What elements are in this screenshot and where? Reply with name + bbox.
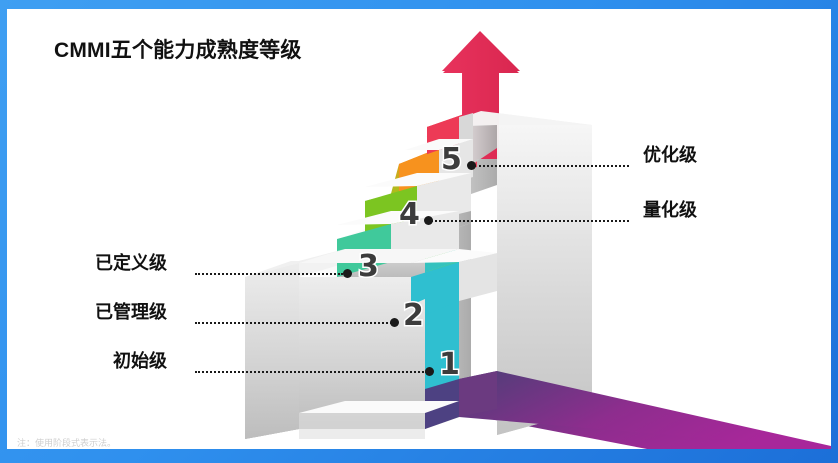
level-label-3: 已定义级 bbox=[95, 254, 167, 272]
level-label-4: 量化级 bbox=[643, 201, 697, 219]
level-number-2: 2 bbox=[403, 301, 424, 331]
level-label-1: 初始级 bbox=[113, 352, 167, 370]
level-number-5: 5 bbox=[441, 145, 462, 175]
leader-line-level1 bbox=[195, 371, 427, 373]
level-number-3: 3 bbox=[358, 252, 379, 282]
leader-dot-level1 bbox=[425, 367, 434, 376]
level-number-4: 4 bbox=[399, 200, 420, 230]
leader-line-level3 bbox=[195, 273, 343, 275]
footnote: 注：使用阶段式表示法。 bbox=[17, 436, 116, 449]
leader-line-level2 bbox=[195, 322, 392, 324]
leader-dot-level3 bbox=[343, 269, 352, 278]
leader-dot-level2 bbox=[390, 318, 399, 327]
leader-line-level4 bbox=[431, 220, 629, 222]
level-number-1: 1 bbox=[439, 350, 460, 380]
slide-canvas: CMMI五个能力成熟度等级 bbox=[7, 9, 831, 449]
leader-dot-level4 bbox=[424, 216, 433, 225]
level-label-2: 已管理级 bbox=[95, 303, 167, 321]
level-label-5: 优化级 bbox=[643, 146, 697, 164]
slide-frame: CMMI五个能力成熟度等级 bbox=[0, 0, 838, 463]
leader-dot-level5 bbox=[467, 161, 476, 170]
leader-line-level5 bbox=[474, 165, 629, 167]
